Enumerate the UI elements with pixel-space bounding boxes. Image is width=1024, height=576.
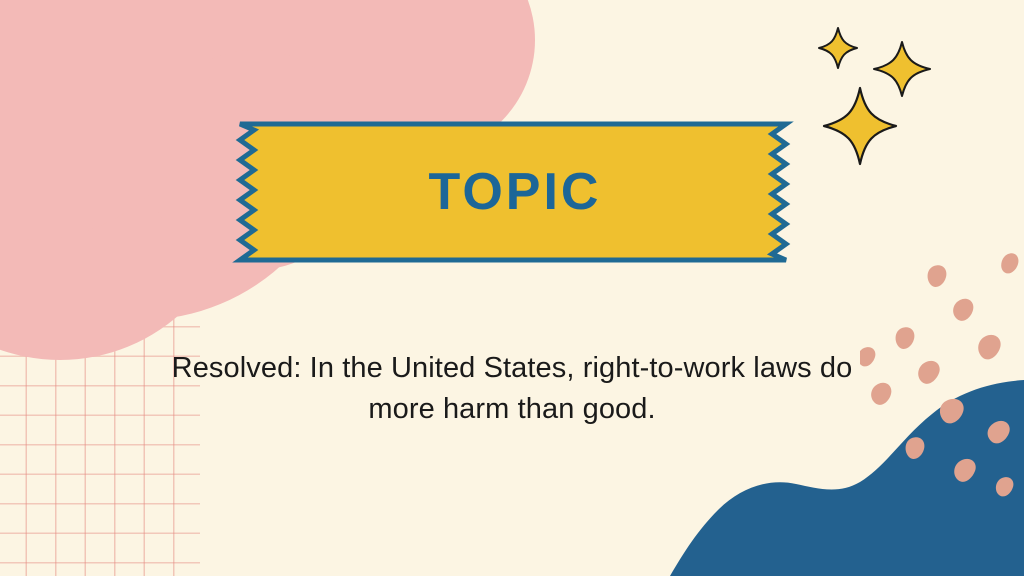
sparkle-group (812, 26, 942, 171)
topic-banner: TOPIC (232, 118, 794, 266)
sparkle-medium-icon (874, 42, 930, 96)
sparkle-large-icon (824, 88, 896, 164)
resolution-text: Resolved: In the United States, right-to… (162, 348, 862, 430)
banner-title: TOPIC (232, 118, 794, 266)
confetti-group (860, 252, 1024, 512)
sparkle-small-icon (819, 28, 857, 68)
slide-canvas: TOPIC Resolved: In the United States, ri… (0, 0, 1024, 576)
